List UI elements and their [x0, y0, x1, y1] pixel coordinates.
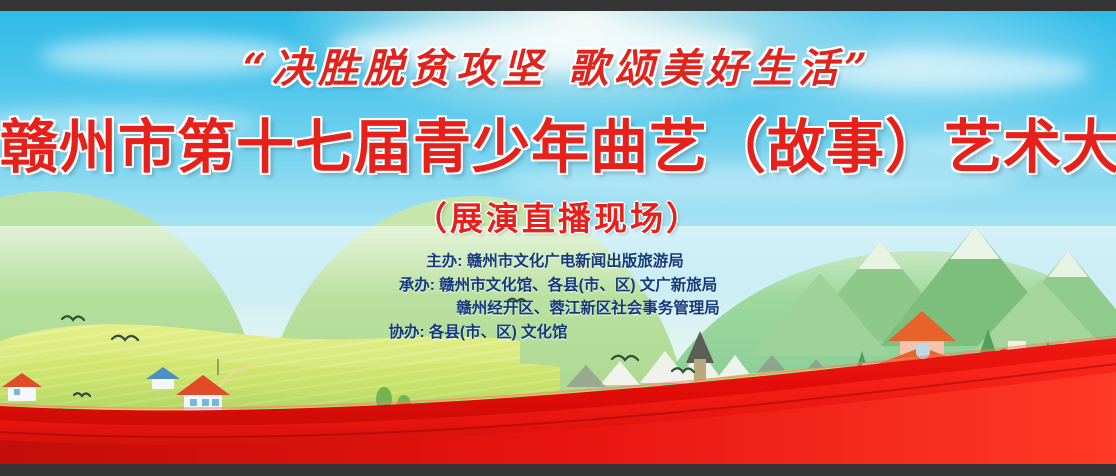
poster-title: 赣州市第十七届青少年曲艺（故事）艺术大赛	[0, 100, 1116, 184]
letterbox-bottom-bar	[0, 464, 1116, 476]
letterbox-top-bar	[0, 0, 1116, 11]
credit-line-organizer: 主办: 赣州市文化广电新闻出版旅游局	[0, 250, 1116, 274]
poster-credits: 主办: 赣州市文化广电新闻出版旅游局 承办: 赣州市文化馆、各县(市、区) 文广…	[0, 250, 1116, 344]
poster-banner: “决胜脱贫攻坚 歌颂美好生活” 赣州市第十七届青少年曲艺（故事）艺术大赛 （展演…	[0, 0, 1116, 476]
poster-tagline: “决胜脱贫攻坚 歌颂美好生活”	[0, 36, 1116, 94]
credit-line-coorganizer: 协办: 各县(市、区) 文化馆	[0, 321, 1116, 345]
credit-line-host: 承办: 赣州市文化馆、各县(市、区) 文广新旅局	[0, 274, 1116, 298]
credit-line-host-second: 赣州经开区、蓉江新区社会事务管理局	[0, 297, 1116, 321]
poster-subtitle: （展演直播现场）	[0, 192, 1116, 240]
poster-text-block: “决胜脱贫攻坚 歌颂美好生活” 赣州市第十七届青少年曲艺（故事）艺术大赛 （展演…	[0, 0, 1116, 476]
